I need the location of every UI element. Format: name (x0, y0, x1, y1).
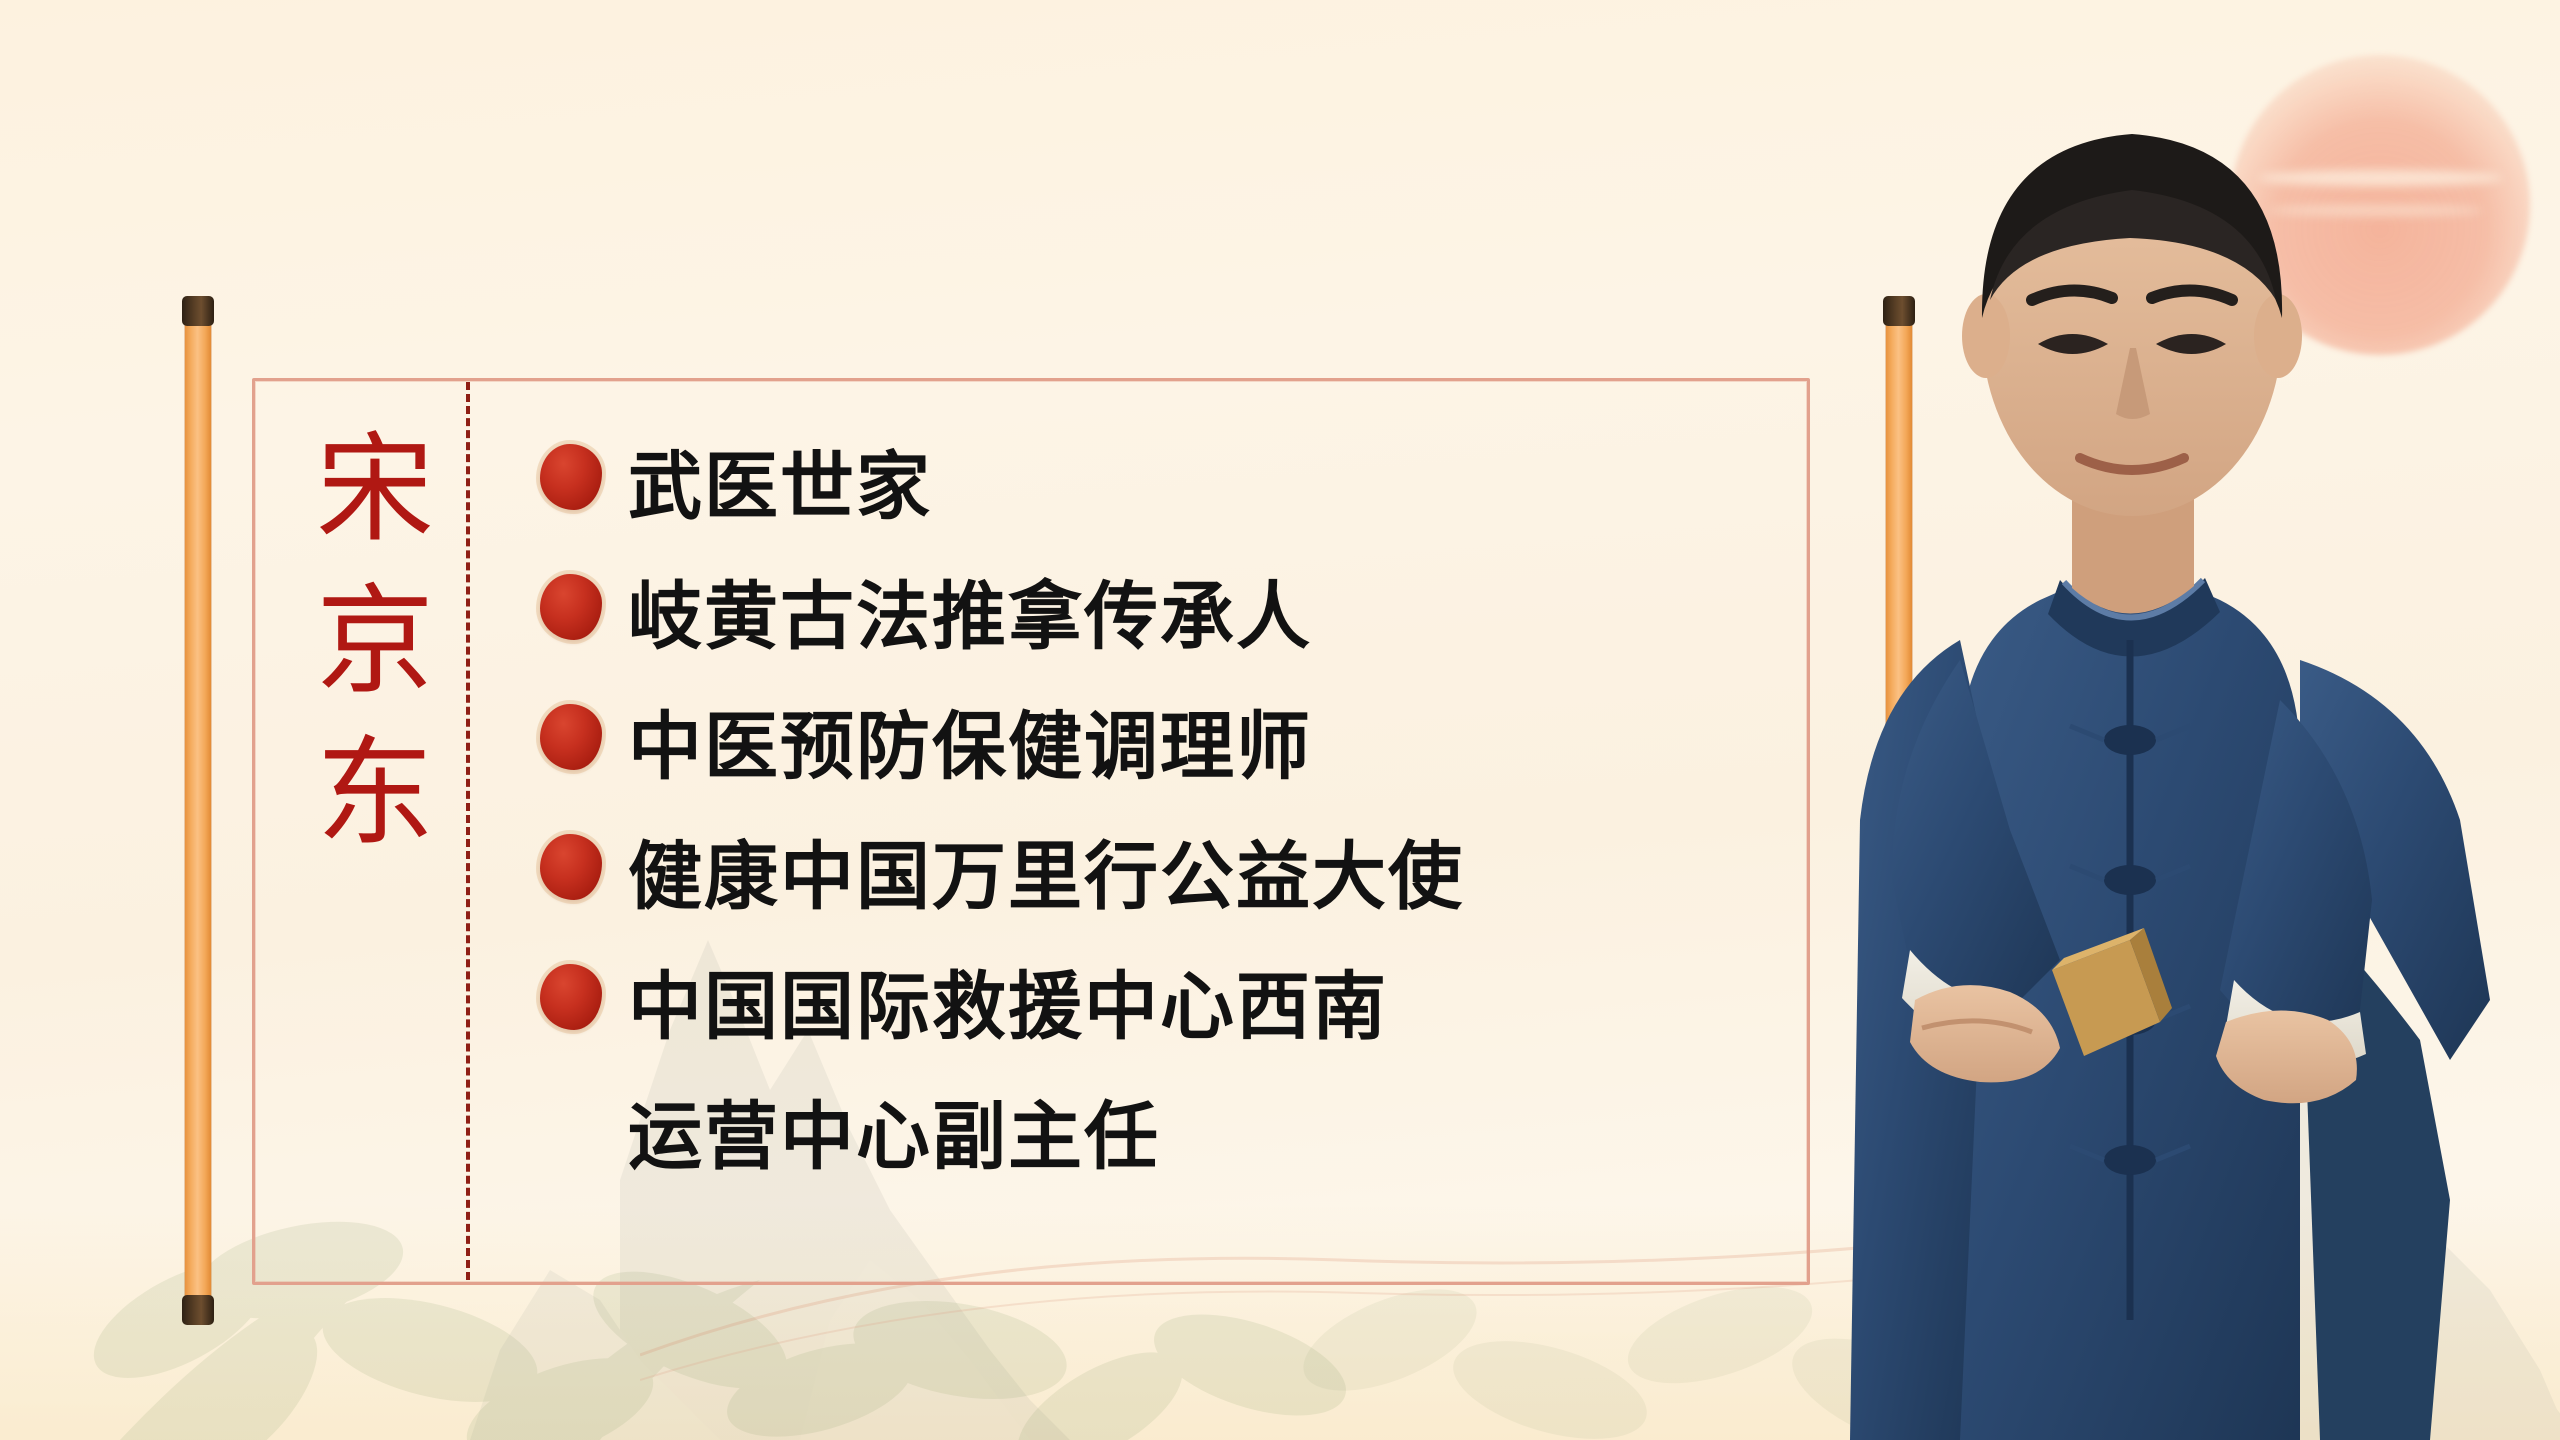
credentials-list: 武医世家 岐黄古法推拿传承人 中医预防保健调理师 健康中国万里行公益大使 中国国… (540, 428, 1840, 1208)
credential-text: 运营中心副主任 (628, 1078, 1160, 1174)
credential-item: 中国国际救援中心西南 (540, 948, 1840, 1078)
credential-text: 中国国际救援中心西南 (628, 948, 1388, 1044)
poster-canvas: 宋 京 东 武医世家 岐黄古法推拿传承人 中医预防保健调理师 健康中国万里行公益… (0, 0, 2560, 1440)
practitioner-name: 宋 京 东 (290, 432, 460, 854)
credential-item: 武医世家 (540, 428, 1840, 558)
name-char-2: 京 (316, 584, 434, 702)
bullet-blob-icon (540, 574, 602, 640)
credential-item: 中医预防保健调理师 (540, 688, 1840, 818)
practitioner-portrait (1660, 0, 2560, 1440)
bullet-blob-icon (540, 444, 602, 510)
credential-text: 武医世家 (628, 428, 932, 524)
name-char-3: 东 (316, 736, 434, 854)
credential-item-continuation: 运营中心副主任 (540, 1078, 1840, 1208)
dashed-vertical-divider (466, 382, 470, 1280)
name-char-1: 宋 (316, 432, 434, 550)
credential-text: 健康中国万里行公益大使 (628, 818, 1464, 914)
credential-text: 中医预防保健调理师 (628, 688, 1312, 784)
credential-item: 健康中国万里行公益大使 (540, 818, 1840, 948)
credential-text: 岐黄古法推拿传承人 (628, 558, 1312, 654)
bullet-blob-icon (540, 964, 602, 1030)
left-scroll-rod (185, 318, 211, 1303)
bullet-blob-icon (540, 704, 602, 770)
credential-item: 岐黄古法推拿传承人 (540, 558, 1840, 688)
bullet-blob-icon (540, 834, 602, 900)
